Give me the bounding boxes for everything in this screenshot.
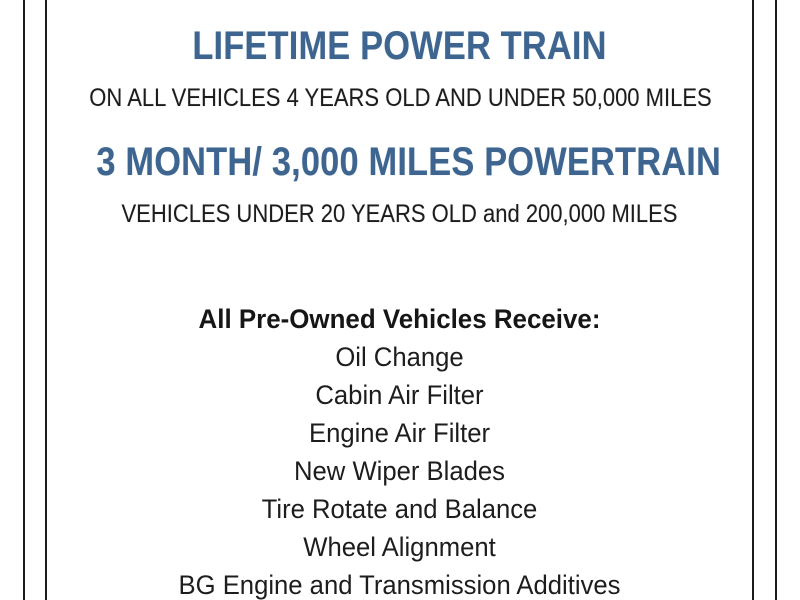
service-item: Cabin Air Filter	[65, 376, 735, 414]
service-item: New Wiper Blades	[65, 452, 735, 490]
service-item: Engine Air Filter	[65, 414, 735, 452]
service-item: BG Engine and Transmission Additives	[65, 566, 735, 600]
service-item: Tire Rotate and Balance	[65, 490, 735, 528]
warranty-block-lifetime: LIFETIME POWER TRAIN ON ALL VEHICLES 4 Y…	[47, 26, 752, 111]
border-rule-outer-left	[23, 0, 25, 600]
warranty-subline-three-month: VEHICLES UNDER 20 YEARS OLD and 200,000 …	[89, 202, 709, 227]
border-rule-outer-right	[775, 0, 777, 600]
warranty-block-three-month: 3 MONTH/ 3,000 MILES POWERTRAIN VEHICLES…	[47, 142, 752, 227]
border-rule-inner-right	[752, 0, 754, 600]
flyer-content: LIFETIME POWER TRAIN ON ALL VEHICLES 4 Y…	[47, 0, 752, 600]
warranty-headline-three-month: 3 MONTH/ 3,000 MILES POWERTRAIN	[96, 142, 702, 182]
service-item: Oil Change	[65, 338, 735, 376]
services-section: All Pre-Owned Vehicles Receive: Oil Chan…	[47, 300, 752, 600]
service-item: Wheel Alignment	[65, 528, 735, 566]
warranty-subline-lifetime: ON ALL VEHICLES 4 YEARS OLD AND UNDER 50…	[89, 86, 709, 111]
warranty-headline-lifetime: LIFETIME POWER TRAIN	[96, 26, 702, 66]
flyer-page: LIFETIME POWER TRAIN ON ALL VEHICLES 4 Y…	[0, 0, 800, 600]
services-heading: All Pre-Owned Vehicles Receive:	[61, 300, 738, 338]
